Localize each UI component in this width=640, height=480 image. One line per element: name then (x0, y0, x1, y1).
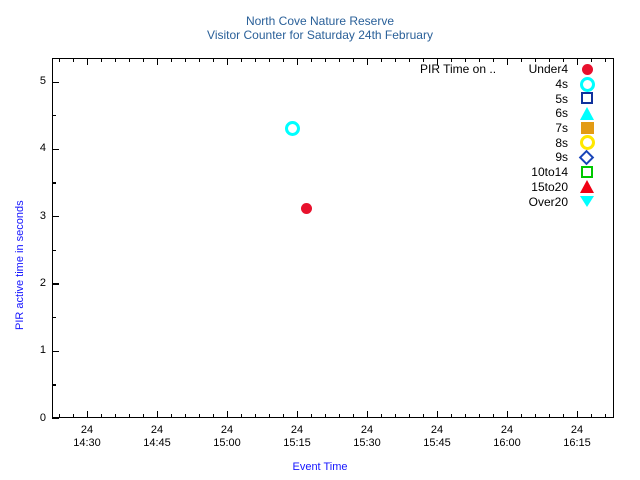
x-axis-top-tick (87, 58, 88, 65)
legend-item-marker (574, 135, 600, 150)
x-tick-time: 15:30 (332, 437, 402, 450)
x-tick-day: 24 (472, 424, 542, 437)
page-title: North Cove Nature Reserve (0, 14, 640, 28)
x-axis-tick-label: 2416:00 (472, 424, 542, 450)
x-axis-top-tick (605, 58, 606, 62)
x-axis-top-tick (101, 58, 102, 62)
x-axis-tick (227, 411, 228, 418)
marker-diamond-open (579, 150, 595, 166)
legend-item-marker (574, 180, 600, 195)
x-axis-top-tick (339, 58, 340, 62)
x-axis-top-tick (283, 58, 284, 62)
x-axis-top-tick (227, 58, 228, 65)
x-axis-minor-tick (59, 414, 60, 418)
marker-circle-open (285, 121, 300, 136)
x-axis-tick (157, 411, 158, 418)
x-tick-day: 24 (52, 424, 122, 437)
legend-item-6s[interactable]: 6s (420, 106, 600, 121)
legend-item-label: Under4 (529, 62, 568, 76)
legend-item-8s[interactable]: 8s (420, 135, 600, 150)
x-axis-minor-tick (479, 414, 480, 418)
marker-triangle-down-open (580, 196, 594, 207)
y-axis-minor-tick (52, 317, 56, 318)
x-axis-top-tick (367, 58, 368, 65)
x-axis-minor-tick (591, 414, 592, 418)
x-axis-top-tick (185, 58, 186, 62)
chart-subtitle: Visitor Counter for Saturday 24th Februa… (0, 28, 640, 42)
x-axis-tick (87, 411, 88, 418)
x-axis-top-tick (59, 58, 60, 62)
y-axis-minor-tick (52, 115, 56, 116)
x-axis-minor-tick (381, 414, 382, 418)
x-axis-tick (367, 411, 368, 418)
x-axis-title: Event Time (0, 461, 640, 473)
x-axis-top-tick (115, 58, 116, 62)
x-axis-top-tick (241, 58, 242, 62)
y-axis-tick (52, 418, 59, 419)
x-axis-minor-tick (213, 414, 214, 418)
legend-item-marker (574, 121, 600, 136)
x-axis-top-tick (297, 58, 298, 65)
x-tick-time: 16:15 (542, 437, 612, 450)
y-axis-tick (52, 351, 59, 352)
x-tick-time: 14:30 (52, 437, 122, 450)
x-axis-tick (507, 411, 508, 418)
x-axis-tick-label: 2415:45 (402, 424, 472, 450)
x-tick-day: 24 (332, 424, 402, 437)
x-tick-time: 14:45 (122, 437, 192, 450)
marker-circle-open (580, 135, 595, 150)
x-axis-tick-label: 2416:15 (542, 424, 612, 450)
x-axis-minor-tick (451, 414, 452, 418)
x-axis-top-tick (409, 58, 410, 62)
y-axis-minor-tick (52, 182, 56, 183)
y-axis-tick-label: 5 (16, 76, 46, 87)
marker-triangle-up (580, 180, 594, 193)
marker-triangle-up (580, 107, 594, 120)
x-tick-time: 16:00 (472, 437, 542, 450)
chart-canvas: North Cove Nature Reserve Visitor Counte… (0, 0, 640, 480)
x-axis-minor-tick (283, 414, 284, 418)
legend-item-label: 8s (555, 136, 568, 150)
marker-square-filled (581, 122, 594, 134)
x-tick-time: 15:45 (402, 437, 472, 450)
y-axis-minor-tick (52, 384, 56, 385)
x-tick-time: 15:00 (192, 437, 262, 450)
legend-item-label: 15to20 (531, 180, 568, 194)
x-tick-day: 24 (542, 424, 612, 437)
legend-item-label: 7s (555, 121, 568, 135)
legend-item-marker (574, 194, 600, 209)
legend-item-10to14[interactable]: 10to14 (420, 165, 600, 180)
legend-item-label: 10to14 (531, 165, 568, 179)
legend-item-label: 6s (555, 106, 568, 120)
x-axis-tick-label: 2414:30 (52, 424, 122, 450)
legend-item-7s[interactable]: 7s (420, 121, 600, 136)
x-axis-minor-tick (409, 414, 410, 418)
chart-title-block: North Cove Nature Reserve Visitor Counte… (0, 14, 640, 42)
chart-legend: PIR Time on ..Under44s5s6s7s8s9s10to1415… (420, 62, 600, 209)
x-axis-top-tick (325, 58, 326, 62)
x-axis-minor-tick (101, 414, 102, 418)
y-axis-minor-tick (52, 250, 56, 251)
legend-item-15to20[interactable]: 15to20 (420, 180, 600, 195)
x-axis-minor-tick (521, 414, 522, 418)
x-axis-tick-label: 2415:30 (332, 424, 402, 450)
y-axis-tick (52, 216, 59, 217)
x-axis-minor-tick (311, 414, 312, 418)
x-axis-top-tick (73, 58, 74, 62)
y-axis-tick (52, 283, 59, 284)
x-axis-minor-tick (563, 414, 564, 418)
x-axis-tick-label: 2414:45 (122, 424, 192, 450)
legend-item-marker (574, 91, 600, 106)
legend-item-marker (574, 62, 600, 77)
y-axis-tick (52, 82, 59, 83)
x-axis-tick (577, 411, 578, 418)
marker-square-open (581, 166, 593, 178)
legend-item-label: 5s (555, 92, 568, 106)
legend-title: PIR Time on .. (420, 62, 496, 77)
x-tick-day: 24 (262, 424, 332, 437)
x-tick-time: 15:15 (262, 437, 332, 450)
x-axis-top-tick (269, 58, 270, 62)
marker-circle-filled (301, 203, 312, 214)
x-axis-minor-tick (353, 414, 354, 418)
x-axis-top-tick (213, 58, 214, 62)
legend-item-marker (574, 165, 600, 180)
x-axis-minor-tick (465, 414, 466, 418)
x-axis-top-tick (171, 58, 172, 62)
x-axis-top-tick (255, 58, 256, 62)
legend-item-over20[interactable]: Over20 (420, 194, 600, 209)
x-axis-minor-tick (493, 414, 494, 418)
x-axis-minor-tick (339, 414, 340, 418)
legend-item-marker (574, 150, 600, 165)
x-axis-minor-tick (535, 414, 536, 418)
x-axis-top-tick (395, 58, 396, 62)
legend-item-9s[interactable]: 9s (420, 150, 600, 165)
x-axis-tick (297, 411, 298, 418)
x-axis-top-tick (381, 58, 382, 62)
x-axis-minor-tick (73, 414, 74, 418)
x-axis-minor-tick (143, 414, 144, 418)
x-axis-top-tick (143, 58, 144, 62)
x-axis-top-tick (311, 58, 312, 62)
x-axis-minor-tick (241, 414, 242, 418)
x-axis-minor-tick (325, 414, 326, 418)
legend-item-4s[interactable]: 4s (420, 77, 600, 92)
legend-item-marker (574, 106, 600, 121)
x-axis-minor-tick (269, 414, 270, 418)
x-axis-minor-tick (395, 414, 396, 418)
legend-item-label: Over20 (529, 195, 568, 209)
x-axis-top-tick (353, 58, 354, 62)
y-axis-tick-label: 0 (16, 413, 46, 424)
y-axis-tick-label: 4 (16, 143, 46, 154)
legend-item-marker (574, 77, 600, 92)
x-tick-day: 24 (402, 424, 472, 437)
legend-item-label: 9s (555, 150, 568, 164)
x-axis-minor-tick (605, 414, 606, 418)
x-tick-day: 24 (122, 424, 192, 437)
marker-circle-open (580, 77, 595, 92)
legend-item-label: 4s (555, 77, 568, 91)
y-axis-tick-label: 1 (16, 345, 46, 356)
x-axis-minor-tick (115, 414, 116, 418)
x-tick-day: 24 (192, 424, 262, 437)
legend-item-under4[interactable]: PIR Time on ..Under4 (420, 62, 600, 77)
x-axis-tick (437, 411, 438, 418)
x-axis-top-tick (129, 58, 130, 62)
x-axis-minor-tick (423, 414, 424, 418)
x-axis-minor-tick (171, 414, 172, 418)
legend-item-5s[interactable]: 5s (420, 91, 600, 106)
x-axis-tick-label: 2415:15 (262, 424, 332, 450)
marker-square-open (581, 92, 593, 104)
x-axis-top-tick (157, 58, 158, 65)
x-axis-top-tick (199, 58, 200, 62)
x-axis-minor-tick (129, 414, 130, 418)
y-axis-tick (52, 149, 59, 150)
x-axis-tick-label: 2415:00 (192, 424, 262, 450)
x-axis-minor-tick (549, 414, 550, 418)
x-axis-minor-tick (185, 414, 186, 418)
x-axis-minor-tick (255, 414, 256, 418)
marker-circle-filled (582, 64, 593, 75)
y-axis-title: PIR active time in seconds (14, 200, 26, 330)
x-axis-minor-tick (199, 414, 200, 418)
